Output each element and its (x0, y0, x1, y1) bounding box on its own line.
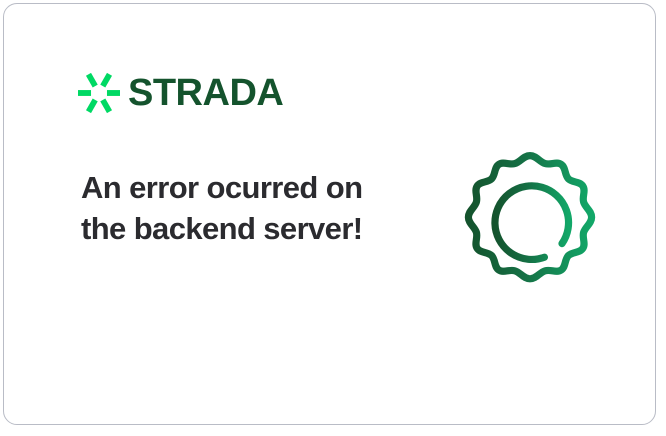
gear-icon (450, 145, 610, 307)
error-card: STRADA An error ocurred on the backend s… (3, 3, 656, 425)
strada-asterisk-icon (78, 72, 120, 114)
brand-logo: STRADA (78, 72, 283, 114)
error-message: An error ocurred on the backend server! (81, 167, 381, 249)
brand-wordmark: STRADA (128, 74, 283, 112)
